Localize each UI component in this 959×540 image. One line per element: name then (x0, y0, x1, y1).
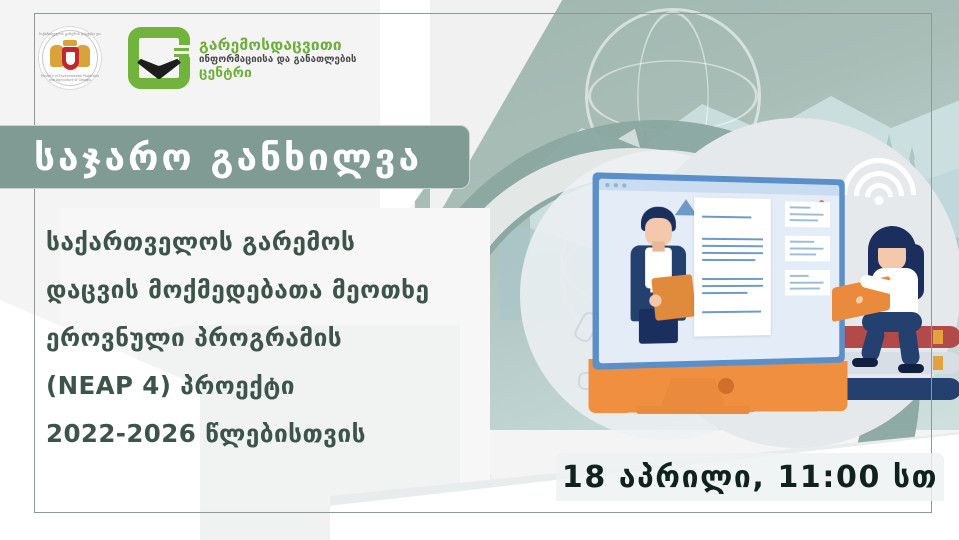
subtitle-block: საქართველოს გარემოს დაცვის მოქმედებათა მ… (46, 218, 466, 458)
desktop-monitor (596, 176, 851, 366)
logo-row: საქართველოს გარემოს დაცვისა და Ministry … (38, 26, 357, 90)
browser-titlebar (599, 179, 839, 196)
subtitle-line: დაცვის მოქმედებათა მეოთხე (46, 266, 466, 314)
org-name-line3: ცენტრი (199, 66, 357, 80)
monitor-screen-content (599, 179, 839, 364)
emblem-ring-text: საქართველოს გარემოს დაცვისა და (39, 32, 101, 36)
subtitle-line: ეროვნული პროგრამის (46, 314, 466, 362)
sidebar-cards (785, 201, 830, 304)
open-book-logo (128, 27, 190, 89)
poster-announcement: საქართველოს გარემოს დაცვისა და Ministry … (0, 0, 959, 540)
illustration-online-meeting (560, 140, 959, 440)
headline-banner: საჯარო განხილვა (0, 125, 470, 189)
georgia-coat-of-arms: საქართველოს გარემოს დაცვისა და Ministry … (38, 26, 102, 90)
org-logo-text: გარემოსდაცვითი ინფორმაციისა და განათლები… (199, 37, 357, 80)
monitor-foot (636, 406, 750, 414)
org-logo: გარემოსდაცვითი ინფორმაციისა და განათლები… (128, 27, 357, 89)
subtitle-line: (NEAP 4) პროექტი (46, 362, 466, 410)
event-date-bar: 18 აპრილი, 11:00 სთ (556, 453, 944, 501)
sidebar-card (785, 236, 830, 262)
subtitle-line: საქართველოს გარემოს (46, 218, 466, 266)
sidebar-card (785, 270, 830, 296)
woman-with-laptop (846, 226, 959, 356)
monitor-knob (718, 378, 734, 394)
org-name-line2: ინფორმაციისა და განათლების (199, 54, 357, 65)
emblem-caption: Ministry of Environmental Protection and… (39, 74, 101, 82)
event-date-text: 18 აპრილი, 11:00 სთ (562, 460, 938, 495)
wifi-icon (842, 158, 916, 210)
headline-text: საჯარო განხილვა (34, 136, 422, 179)
sidebar-card (785, 201, 830, 227)
monitor-screen (593, 172, 845, 370)
presenter-person (626, 206, 690, 340)
subtitle-line: 2022-2026 წლებისთვის (46, 410, 466, 458)
org-name-line1: გარემოსდაცვითი (199, 37, 357, 53)
document-preview (694, 197, 771, 336)
